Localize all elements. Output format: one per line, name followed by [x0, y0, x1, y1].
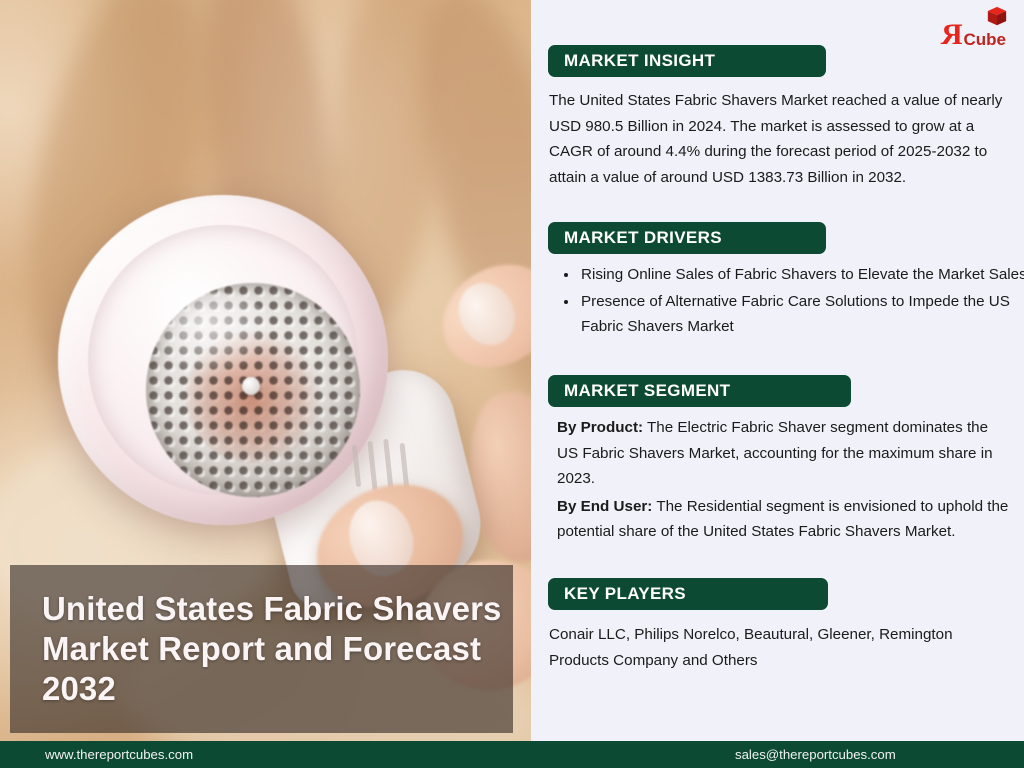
page-title: United States Fabric Shavers Market Repo… [10, 589, 513, 710]
cube-icon [986, 6, 1008, 28]
section-header-label: MARKET INSIGHT [548, 51, 715, 71]
mesh-highlight [159, 292, 275, 378]
hero-title-overlay: United States Fabric Shavers Market Repo… [10, 565, 513, 733]
segment-by-end-user-label: By End User: [557, 498, 652, 515]
list-item: Rising Online Sales of Fabric Shavers to… [579, 262, 1024, 287]
footer-bar: www.thereportcubes.com sales@thereportcu… [0, 741, 1024, 768]
section-header-market-segment: MARKET SEGMENT [548, 375, 851, 407]
reportcube-logo[interactable]: R Cube [941, 8, 1006, 50]
footer-email-link[interactable]: sales@thereportcubes.com [735, 741, 896, 768]
logo-r-letter: R [941, 20, 963, 50]
device-rim [88, 225, 358, 495]
list-item: Presence of Alternative Fabric Care Solu… [579, 289, 1024, 339]
logo-cube-word: Cube [964, 31, 1007, 50]
hero-image-panel: United States Fabric Shavers Market Repo… [0, 0, 531, 741]
segment-by-product: By Product: The Electric Fabric Shaver s… [557, 415, 1009, 492]
section-header-key-players: KEY PLAYERS [548, 578, 828, 610]
section-header-market-insight: MARKET INSIGHT [548, 45, 826, 77]
section-header-market-drivers: MARKET DRIVERS [548, 222, 826, 254]
content-panel: R Cube MARKET INSIGHT The United States … [531, 0, 1024, 741]
section-header-label: MARKET DRIVERS [548, 228, 722, 248]
infographic-page: United States Fabric Shavers Market Repo… [0, 0, 1024, 768]
key-players-body: Conair LLC, Philips Norelco, Beautural, … [549, 622, 999, 673]
footer-website-link[interactable]: www.thereportcubes.com [45, 741, 193, 768]
section-header-label: KEY PLAYERS [548, 584, 686, 604]
segment-by-end-user: By End User: The Residential segment is … [557, 494, 1009, 545]
section-header-label: MARKET SEGMENT [548, 381, 730, 401]
market-drivers-list: Rising Online Sales of Fabric Shavers to… [549, 262, 1024, 342]
segment-by-product-label: By Product: [557, 419, 643, 436]
device-head [58, 195, 388, 525]
device-mesh-screen [146, 283, 360, 497]
market-insight-body: The United States Fabric Shavers Market … [549, 88, 1011, 190]
market-segment-body: By Product: The Electric Fabric Shaver s… [557, 415, 1009, 547]
